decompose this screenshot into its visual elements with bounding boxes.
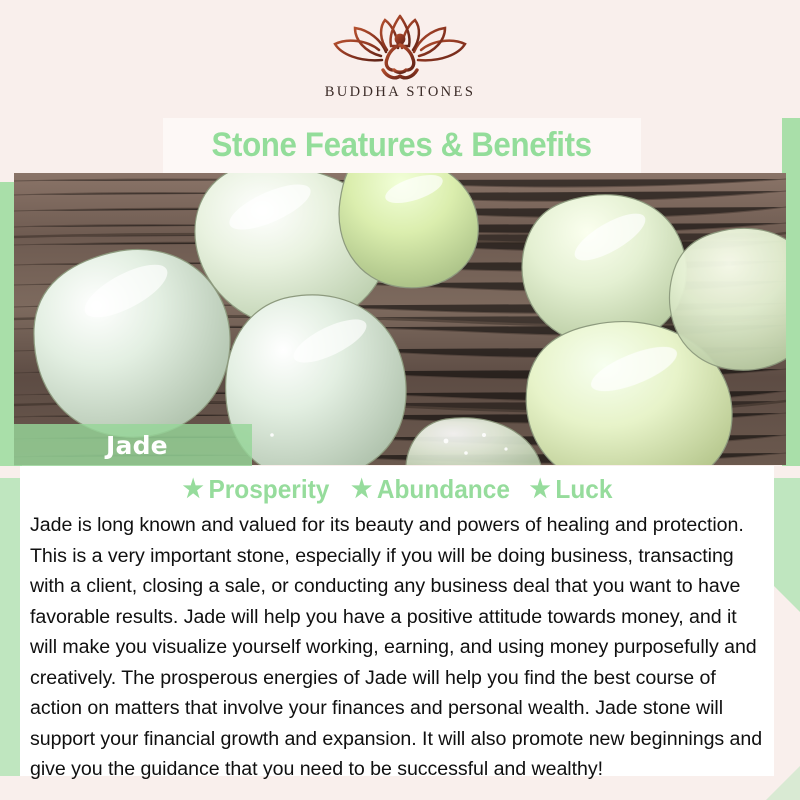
- infographic-card: BUDDHA STONES Stone Features & Benefits: [0, 0, 800, 800]
- decor-text-right-green: [774, 466, 800, 586]
- benefits-row: ★ Prosperity ★ Abundance ★ Luck: [28, 466, 766, 508]
- star-icon: ★: [530, 477, 551, 502]
- stone-description: Jade is long known and valued for its be…: [28, 510, 766, 785]
- benefit-label: Luck: [556, 474, 613, 505]
- benefit-label: Prosperity: [209, 474, 330, 505]
- star-icon: ★: [352, 477, 373, 502]
- star-icon: ★: [183, 477, 204, 502]
- stone-name-chip: Jade: [14, 424, 252, 466]
- section-title-banner: Stone Features & Benefits: [163, 118, 641, 173]
- jade-stones-photo: [14, 173, 786, 465]
- stone-info-panel: ★ Prosperity ★ Abundance ★ Luck Jade is …: [20, 466, 774, 776]
- benefit-label: Abundance: [377, 474, 510, 505]
- decor-text-left-green: [0, 466, 20, 776]
- benefit-item-luck: ★ Luck: [530, 474, 613, 505]
- benefit-item-abundance: ★ Abundance: [352, 474, 511, 505]
- stone-name: Jade: [106, 431, 168, 460]
- benefit-item-prosperity: ★ Prosperity: [183, 474, 330, 505]
- brand-name: BUDDHA STONES: [325, 84, 476, 101]
- brand-header: BUDDHA STONES: [0, 0, 800, 118]
- page-title: Stone Features & Benefits: [212, 126, 592, 165]
- lotus-meditation-icon: [325, 14, 475, 82]
